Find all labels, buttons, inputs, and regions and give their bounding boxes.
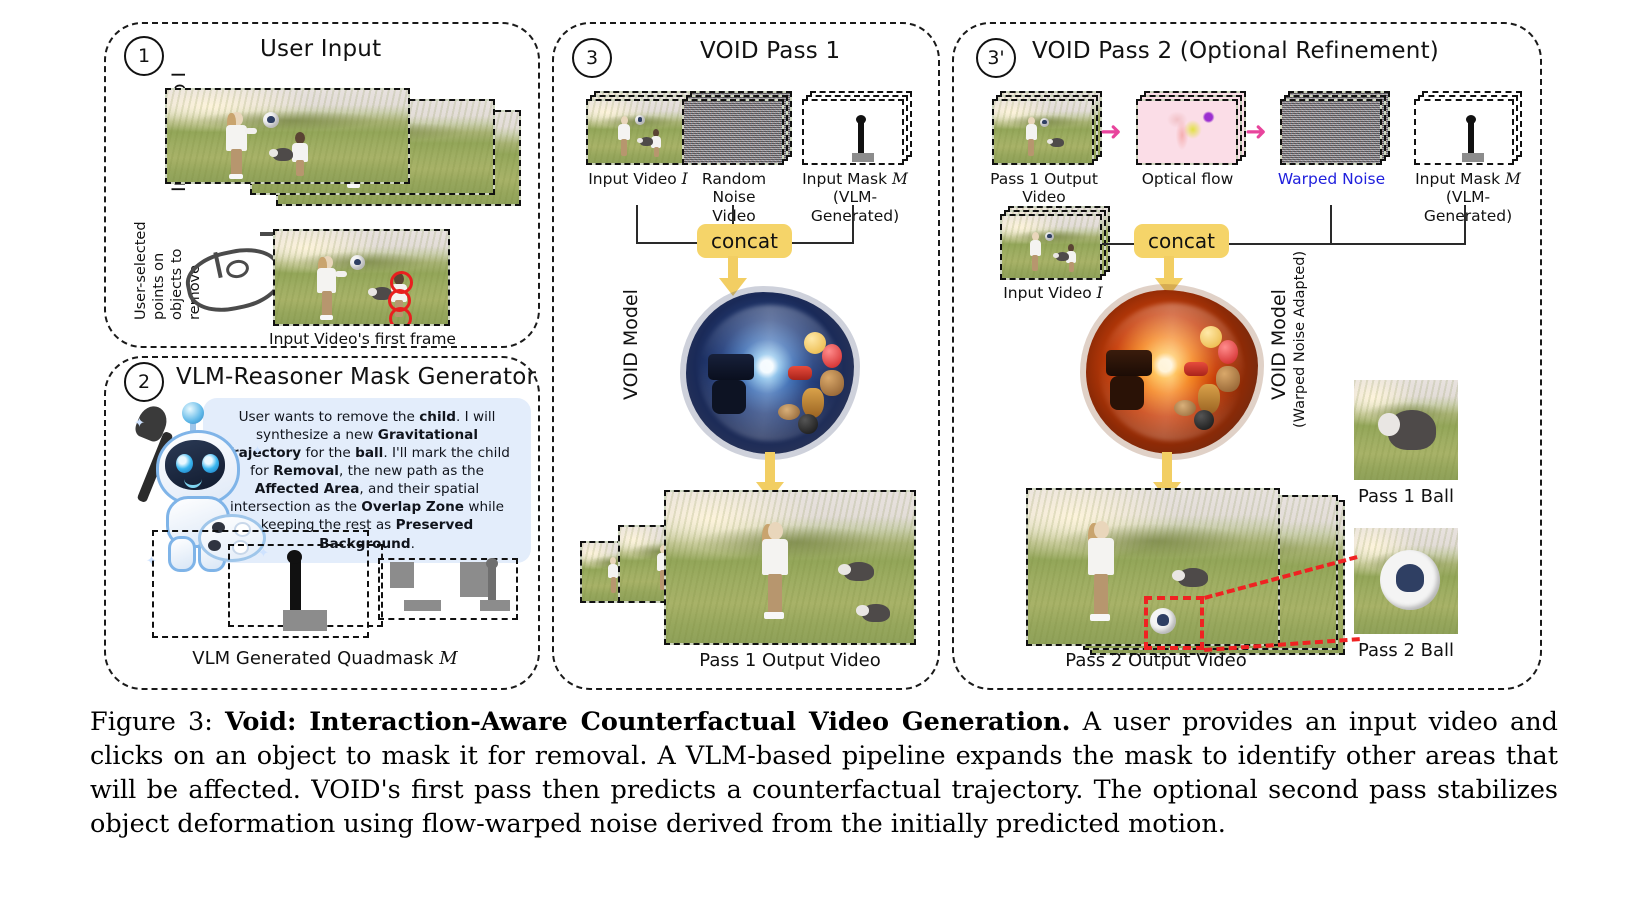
- panel2-title: VLM-Reasoner Mask Generator: [176, 364, 536, 390]
- meadow-photo: [167, 90, 408, 182]
- pass2-warped-noise: [1280, 99, 1382, 165]
- pass1-ball-label: Pass 1 Ball: [1340, 486, 1472, 507]
- bubble-b1: child: [419, 409, 456, 425]
- panel1-title: User Input: [260, 36, 381, 62]
- pass1-mask-label: Input Mask M (VLM-Generated): [790, 170, 920, 225]
- pass1-mask-label-line2: (VLM-Generated): [811, 188, 899, 224]
- pass1-concat-arrow-shaft: [728, 256, 738, 280]
- pass1-input-video-text: Input Video: [588, 170, 677, 188]
- pass1-random-noise-video: [682, 99, 784, 165]
- pass2-mask-label: Input Mask M (VLM-Generated): [1404, 170, 1532, 225]
- figure-caption-prefix: Figure 3:: [90, 707, 213, 737]
- pass2-mask-label-symbol: M: [1505, 170, 1521, 188]
- figure-caption-bold: Void: Interaction-Aware Counterfactual V…: [225, 707, 1071, 737]
- quadmask-block-affected-upper: [390, 562, 414, 588]
- bubble-b3: ball: [355, 445, 383, 461]
- pass2-pass1-output-label: Pass 1 Output Video: [978, 170, 1110, 207]
- quadmask-silhouette-child-head: [287, 550, 302, 564]
- quadmask-label: VLM Generated Quadmask M: [180, 648, 470, 669]
- pass2-mask-label-line1: Input Mask: [1415, 170, 1500, 188]
- pass1-wire-left-v: [636, 205, 638, 243]
- pass1-concat-arrow-head: [719, 278, 747, 296]
- pass2-input-video: [1000, 214, 1102, 280]
- pass2-output-arrow-shaft: [1162, 452, 1172, 484]
- pass1-concat-node: concat: [697, 224, 792, 258]
- panel1-input-video-symbol: I: [168, 72, 190, 78]
- pass2-pass1-output-video: [992, 99, 1094, 165]
- panel3p-title: VOID Pass 2 (Optional Refinement): [1032, 38, 1439, 64]
- pass1-wire-left-h: [636, 242, 700, 244]
- panel1-step-badge: 1: [124, 36, 164, 76]
- pass2-input-video-text: Input Video: [1003, 284, 1092, 302]
- bubble-b4: Removal: [273, 463, 339, 479]
- input-video-first-frame: [273, 229, 450, 326]
- pass2-wire-top-h: [1205, 243, 1466, 245]
- first-frame-label: Input Video's first frame: [260, 330, 465, 348]
- pass2-void-model-sublabel: (Warped Noise Adapted): [1292, 251, 1308, 428]
- bubble-t5: , the new path as the: [339, 463, 484, 479]
- meadow-photo: [275, 231, 448, 324]
- figure-caption: Figure 3: Void: Interaction-Aware Counte…: [90, 706, 1558, 842]
- pass1-noise-label: Random Noise Video: [678, 170, 790, 225]
- pass1-ball-crop: [1354, 380, 1458, 480]
- pass1-wire-right-v: [852, 205, 854, 243]
- bubble-b6: Overlap Zone: [361, 499, 464, 515]
- quadmask-silhouette-overlap-head: [486, 558, 498, 569]
- pass2-ball-crop: [1354, 528, 1458, 634]
- pass1-output-arrow-shaft: [765, 452, 775, 484]
- pink-arrow-2-icon: ➜: [1245, 119, 1267, 145]
- pass1-mask-label-symbol: M: [892, 170, 908, 188]
- input-video-frame-1: [165, 88, 410, 184]
- quadmask-block-overlap: [460, 562, 488, 597]
- pass2-wire-mask-v: [1464, 205, 1466, 243]
- pass2-input-video-label: Input Video I: [992, 284, 1114, 302]
- pass2-wire-warped-v: [1330, 205, 1332, 243]
- click-point-3: [389, 307, 412, 326]
- pass1-output-label: Pass 1 Output Video: [640, 650, 940, 671]
- bubble-t3: for the: [301, 445, 355, 461]
- pass1-output-video: [664, 490, 916, 645]
- pass2-concat-arrow-shaft: [1164, 256, 1174, 280]
- panel3-title: VOID Pass 1: [700, 38, 840, 64]
- quadmask-label-text: VLM Generated Quadmask: [192, 648, 433, 669]
- pass2-ball-label: Pass 2 Ball: [1340, 640, 1472, 661]
- pass2-mask-label-line2: (VLM-Generated): [1424, 188, 1512, 224]
- pass2-input-mask: [1414, 99, 1514, 165]
- pass1-noise-label-line2: Video: [712, 207, 755, 225]
- figure-stage: 1 User Input Input Video I User-: [0, 0, 1644, 912]
- quadmask-block-child-base: [283, 610, 327, 631]
- quadmask-block-overlap-base: [480, 600, 510, 611]
- panel3-step-badge: 3: [572, 38, 612, 78]
- bubble-t8: .: [411, 536, 415, 552]
- quadmask-label-symbol: M: [439, 648, 457, 669]
- pass2-concat-node: concat: [1134, 224, 1229, 258]
- pass2-optical-flow: [1136, 99, 1238, 165]
- pass2-output-ball-highlight-box: [1144, 596, 1204, 650]
- pass2-output-label: Pass 2 Output Video: [1026, 650, 1286, 671]
- pass2-input-video-symbol: I: [1097, 284, 1103, 302]
- pass2-optical-flow-label: Optical flow: [1130, 170, 1245, 188]
- pass1-input-video: [586, 99, 688, 165]
- quadmask-block-affected-lower: [404, 600, 441, 611]
- pass1-void-model-label: VOID Model: [620, 289, 642, 400]
- pass2-wire-left-h: [1102, 243, 1134, 245]
- pink-arrow-1-icon: ➜: [1100, 119, 1122, 145]
- panel2-step-badge: 2: [124, 362, 164, 402]
- panel3p-step-badge: 3': [976, 38, 1016, 78]
- pass2-void-model-label: VOID Model: [1268, 289, 1290, 400]
- pass2-warped-noise-label: Warped Noise: [1274, 170, 1389, 188]
- pass1-noise-label-line1: Random Noise: [702, 170, 766, 206]
- pass1-input-mask: [802, 99, 904, 165]
- pass1-mask-label-line1: Input Mask: [802, 170, 887, 188]
